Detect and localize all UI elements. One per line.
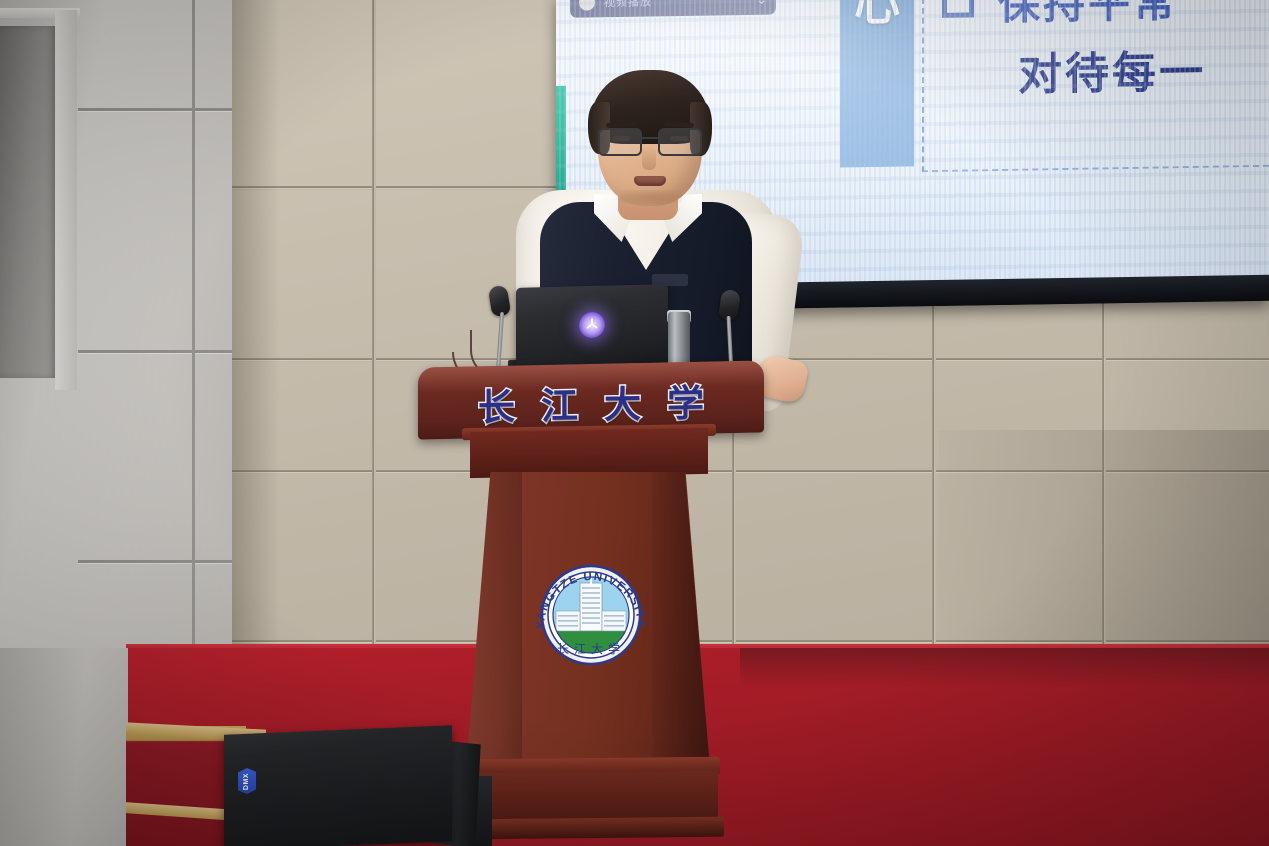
square-bullet-icon — [942, 0, 974, 17]
lecture-hall-photo: 视频播放 ⌄ 心 保持平常 对待每一 — [0, 0, 1269, 846]
thermos-flask — [668, 312, 690, 368]
mouth — [634, 176, 666, 186]
play-dot-icon — [579, 0, 595, 11]
laptop-logo-icon — [579, 312, 605, 339]
slide-second-line: 对待每一 — [1018, 36, 1206, 103]
slide-bullet-row: 保持平常 — [942, 0, 1178, 33]
stage-side-wall — [0, 648, 128, 846]
speaker-brand-label: DMX — [244, 772, 251, 789]
speaker-brand-badge: DMX — [238, 768, 256, 795]
slide-accent-panel: 心 — [840, 0, 914, 168]
wall-alcove — [0, 26, 58, 378]
chevron-down-icon[interactable]: ⌄ — [756, 0, 767, 8]
svg-text:长江大学: 长江大学 — [557, 641, 625, 656]
university-emblem: YANGTZE UNIVERSITY 长江大学 — [518, 553, 664, 677]
podium-neck — [470, 428, 708, 478]
slide-media-toolbar[interactable]: 视频播放 ⌄ — [570, 0, 776, 18]
slide-bullet-text: 保持平常 — [998, 0, 1178, 32]
slide-accent-character: 心 — [854, 0, 900, 167]
stage-monitor-speaker — [224, 725, 452, 846]
microphone-right — [716, 290, 746, 372]
laptop — [516, 284, 668, 366]
slide-toolbar-label: 视频播放 — [604, 0, 652, 10]
